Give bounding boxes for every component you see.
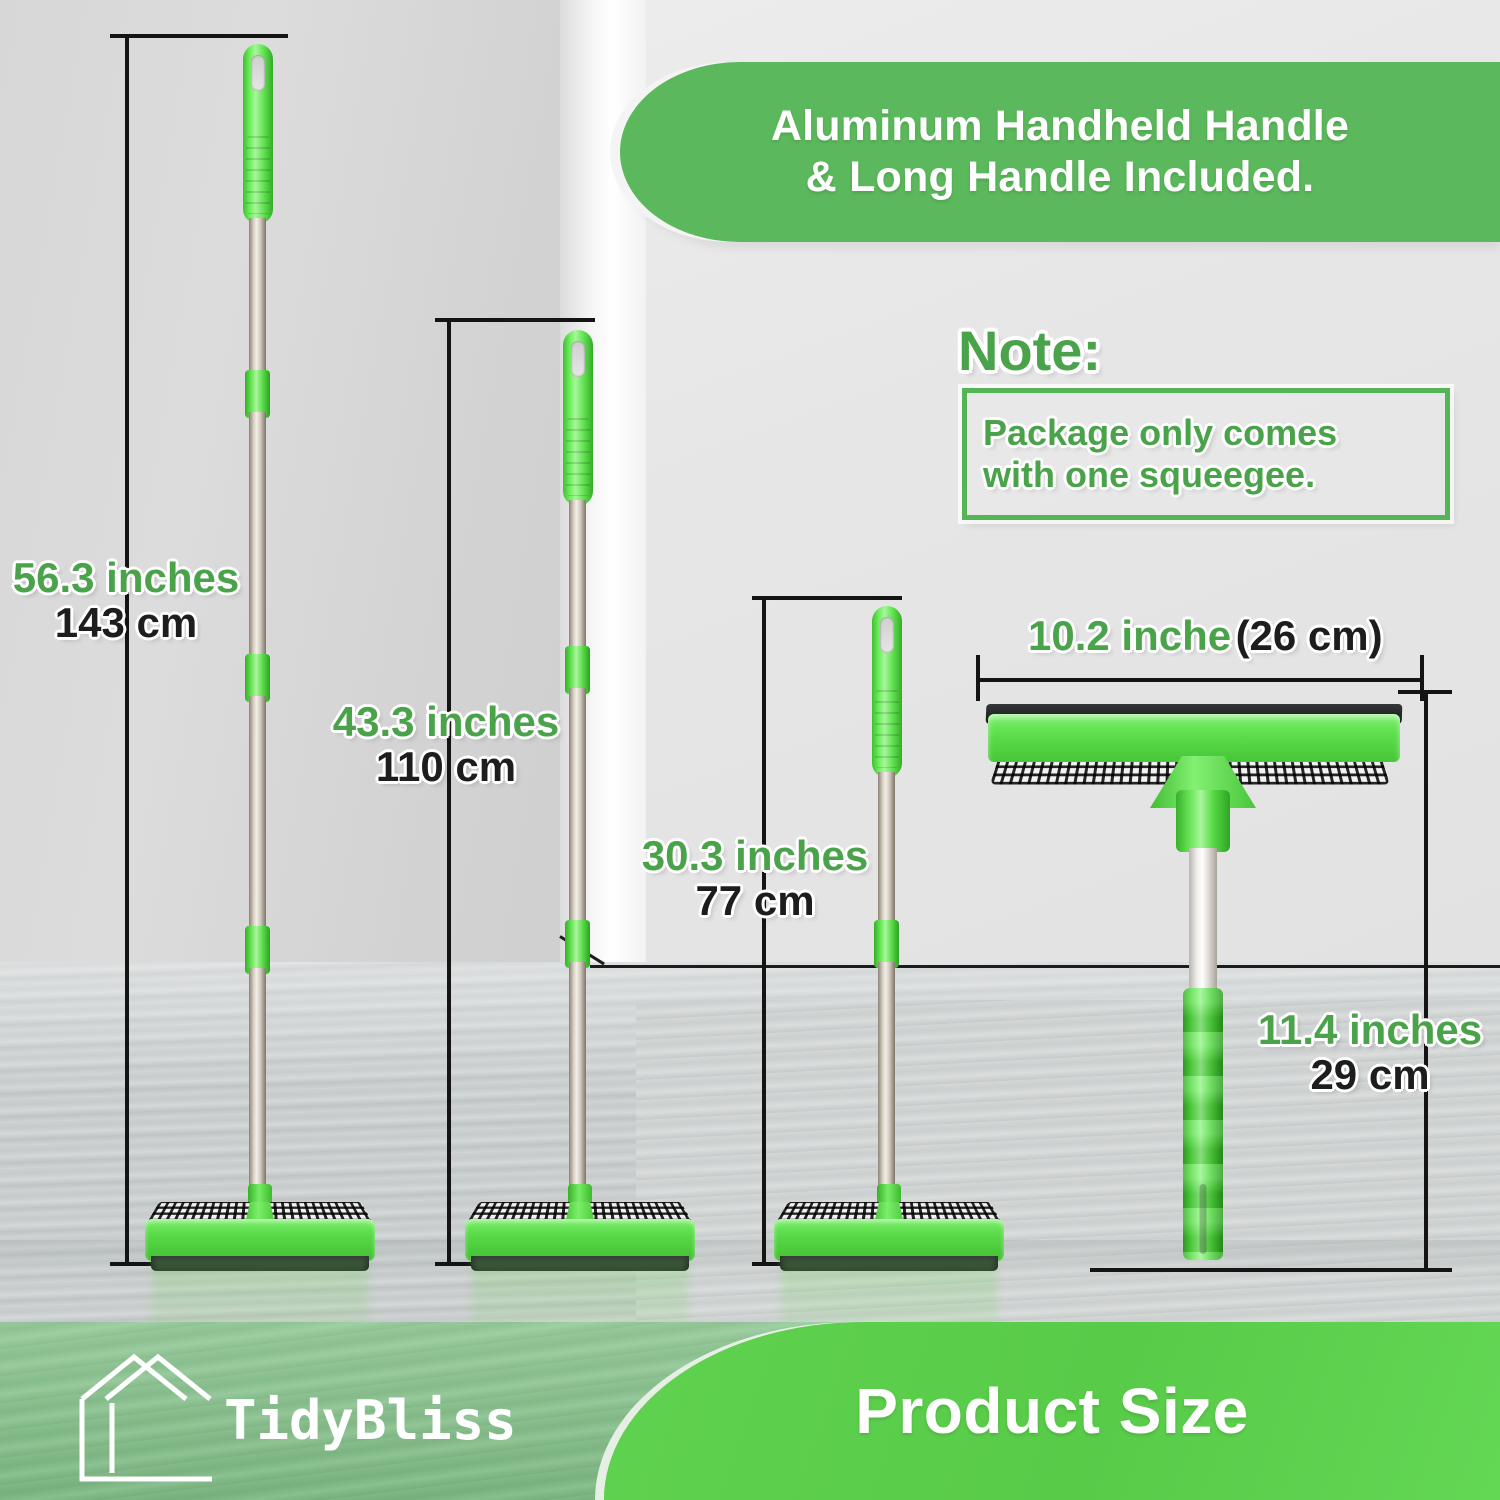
pole-rod-short-lower (878, 962, 895, 1208)
dimension-label-medium-pole: 43.3 inches 110 cm (326, 700, 566, 790)
dimension-inches: 56.3 inches (6, 556, 246, 600)
wall-floor-junction (590, 965, 1500, 968)
dimension-inches: 11.4 inches (1250, 1008, 1490, 1052)
dimension-label-handheld: 11.4 inches 29 cm (1250, 1008, 1490, 1098)
dimension-cm: 77 cm (640, 878, 870, 924)
note-line-1: Package only comes (983, 412, 1445, 454)
pole-rod-medium-lower (569, 962, 586, 1208)
pole-rod-long-lower (249, 696, 266, 932)
pole-rod-medium-mid (569, 688, 586, 926)
grip-ridges (875, 690, 899, 768)
hang-hole-icon (251, 55, 265, 91)
head-body (774, 1219, 1004, 1261)
hang-hole-icon (571, 341, 585, 377)
pole-rod-long-upper (249, 218, 266, 378)
dimension-cm: 29 cm (1250, 1052, 1490, 1098)
pole-grip-long (243, 44, 273, 224)
brand-name: TidyBliss (224, 1389, 517, 1452)
dimension-line-medium (447, 318, 451, 1266)
headline-line-1: Aluminum Handheld Handle (771, 101, 1349, 152)
dimension-label-long-pole: 56.3 inches 143 cm (6, 556, 246, 646)
dimension-line-handheld (1424, 690, 1428, 1272)
grip-slot (1200, 1184, 1207, 1254)
dimension-tick-top-short (752, 596, 902, 600)
dimension-label-squeegee-width: 10.2 inche (26 cm) (1028, 612, 1383, 660)
head-body (465, 1219, 695, 1261)
pole-collar-long-2 (245, 654, 270, 702)
hang-hole-icon (880, 617, 894, 653)
dimension-inches: 43.3 inches (326, 700, 566, 744)
pole-collar-medium-1 (565, 646, 590, 694)
grip-ridges (246, 136, 270, 214)
grip-ridges (566, 418, 590, 496)
footer-title: Product Size (604, 1322, 1500, 1500)
pole-grip-short (872, 606, 902, 778)
pole-grip-medium (563, 330, 593, 506)
brand-logo: TidyBliss (72, 1345, 542, 1485)
handheld-head-body (988, 714, 1400, 762)
head-body (145, 1219, 375, 1261)
handheld-head-socket (1176, 790, 1230, 852)
handheld-aluminum-rod (1189, 848, 1217, 993)
dimension-line-short (762, 596, 766, 1266)
pole-collar-long-3 (245, 926, 270, 974)
note-line-2: with one squeegee. (983, 454, 1445, 496)
note-box: Package only comes with one squeegee. (962, 388, 1450, 520)
dimension-cm: 110 cm (326, 744, 566, 790)
background-wall-left (0, 0, 600, 985)
headline-line-2: & Long Handle Included. (806, 152, 1315, 203)
product-infographic: Aluminum Handheld Handle & Long Handle I… (0, 0, 1500, 1500)
headline-banner: Aluminum Handheld Handle & Long Handle I… (620, 62, 1500, 242)
dimension-line-long (125, 34, 129, 1266)
dimension-inches: 10.2 inche (1028, 612, 1231, 659)
dimension-inches: 30.3 inches (640, 834, 870, 878)
dimension-tick-top-long (110, 34, 288, 38)
dimension-tick-left-width (976, 655, 980, 701)
pole-rod-long-mid (249, 412, 266, 660)
pole-collar-medium-2 (565, 920, 590, 968)
pole-rod-medium-upper (569, 500, 586, 652)
dimension-tick-top-medium (435, 318, 595, 322)
pole-collar-long-1 (245, 370, 270, 418)
pole-collar-short-1 (874, 920, 899, 968)
note-title: Note: (958, 318, 1101, 383)
pole-rod-short-upper (878, 772, 895, 926)
dimension-label-short-pole: 30.3 inches 77 cm (640, 834, 870, 924)
dimension-tick-top-handheld (1398, 690, 1452, 694)
dimension-line-width (976, 678, 1424, 682)
handheld-grip (1183, 988, 1223, 1260)
dimension-cm: 143 cm (6, 600, 246, 646)
pole-rod-long-bottom (249, 968, 266, 1208)
dimension-tick-bottom-handheld (1090, 1268, 1452, 1272)
dimension-cm: (26 cm) (1236, 612, 1383, 659)
